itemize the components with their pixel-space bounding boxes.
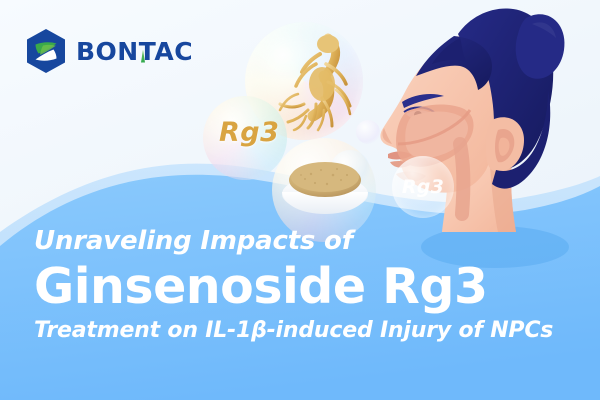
hexagon-leaf-logo-icon — [25, 28, 67, 74]
poster-canvas: BONTAC — [0, 0, 600, 400]
hero-subline: Treatment on IL-1β-induced Injury of NPC… — [34, 319, 574, 343]
brand-logo[interactable]: BONTAC — [25, 28, 193, 74]
hero-headline: Ginsenoside Rg3 — [34, 261, 574, 313]
head-profile-anatomy-icon — [340, 0, 570, 254]
brand-name: BONTAC — [76, 37, 193, 66]
rg3-floating-label: Rg3 — [219, 117, 279, 148]
rg3-cheek-label: Rg3 — [402, 176, 444, 198]
hero-kicker: Unraveling Impacts of — [34, 228, 574, 255]
hero-title-block: Unraveling Impacts of Ginsenoside Rg3 Tr… — [34, 228, 574, 343]
rg3-cheek-bubble: Rg3 — [392, 156, 454, 218]
brand-wordmark: BONTAC — [76, 39, 193, 64]
